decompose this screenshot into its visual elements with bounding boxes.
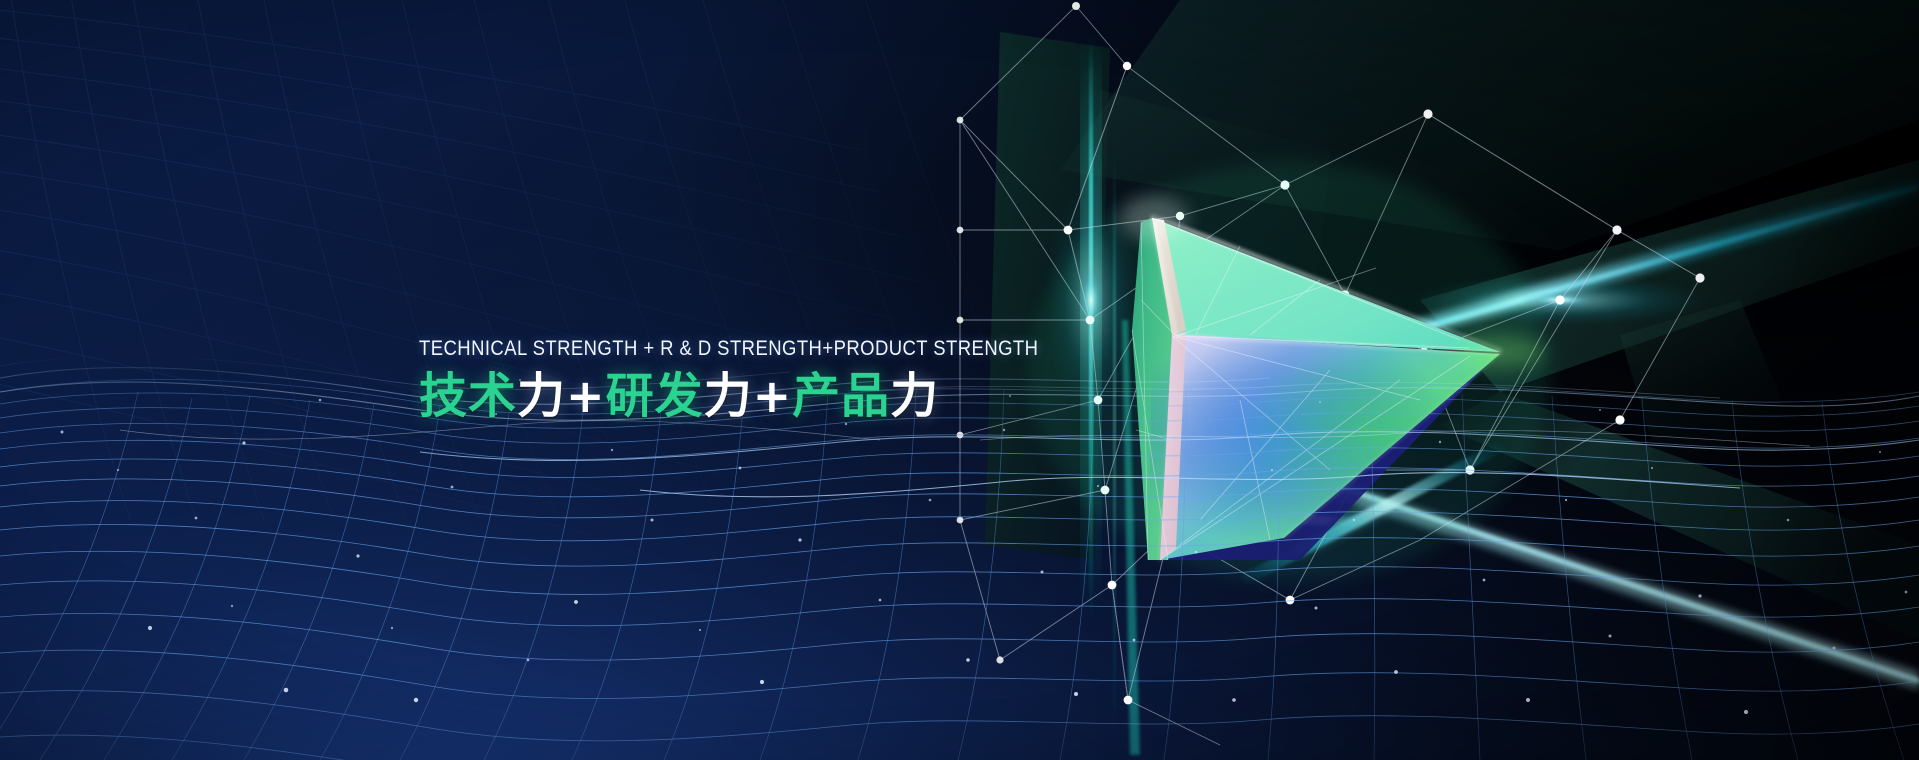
- headline-seg-1: 力: [517, 366, 566, 426]
- headline-seg-6: 产品: [792, 366, 890, 426]
- headline-seg-5: +: [753, 366, 793, 426]
- headline-seg-7: 力: [890, 366, 939, 426]
- prism-face-lower: [1160, 334, 1500, 560]
- eyebrow-text: TECHNICAL STRENGTH + R & D STRENGTH+PROD…: [419, 336, 1038, 362]
- headline-block: TECHNICAL STRENGTH + R & D STRENGTH+PROD…: [419, 336, 1123, 426]
- hero-banner: TECHNICAL STRENGTH + R & D STRENGTH+PROD…: [0, 0, 1919, 760]
- headline-seg-3: 研发: [606, 366, 704, 426]
- headline-chinese: 技术力+研发力+产品力: [419, 366, 1123, 426]
- prism-face-left: [1132, 218, 1176, 560]
- headline-seg-4: 力: [704, 366, 753, 426]
- prism-face-top: [1152, 218, 1500, 352]
- headline-seg-2: +: [566, 366, 606, 426]
- particle-field: [61, 379, 1908, 714]
- prism-spine-lower: [1160, 332, 1186, 560]
- prism-spine-upper: [1152, 218, 1186, 336]
- headline-seg-0: 技术: [419, 366, 517, 426]
- prism-face-bottom: [1150, 352, 1500, 558]
